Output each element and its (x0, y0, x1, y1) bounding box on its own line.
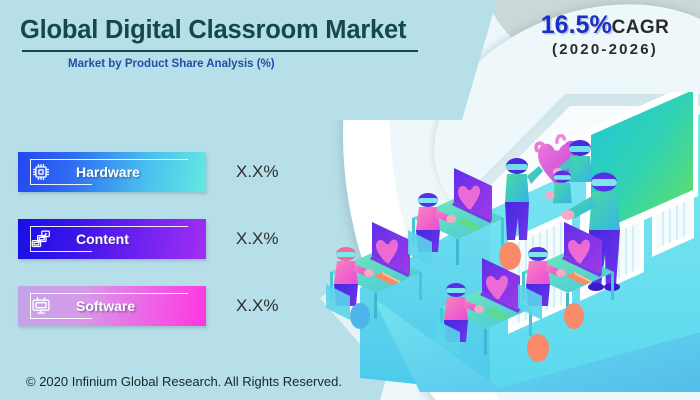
legend-label-hardware: Hardware (76, 152, 140, 192)
page-title: Global Digital Classroom Market (20, 16, 406, 45)
cagr-label: CAGR (612, 17, 670, 38)
legend-row-hardware[interactable]: Hardware X.X% (18, 152, 206, 192)
monitor-icon (31, 296, 51, 316)
legend-bar-hardware[interactable]: Hardware (18, 152, 206, 192)
cagr-badge: 16.5%CAGR (516, 11, 694, 40)
legend-value-hardware: X.X% (236, 152, 279, 192)
title-underline (22, 50, 418, 52)
legend-label-content: Content (76, 219, 129, 259)
cagr-value: 16.5% (541, 11, 612, 39)
legend-label-software: Software (76, 286, 135, 326)
content-media-icon (31, 229, 51, 249)
legend-row-content[interactable]: Content X.X% (18, 219, 206, 259)
isometric-vr-classroom-illustration (300, 92, 700, 392)
legend-value-software: X.X% (236, 286, 279, 326)
legend-value-content: X.X% (236, 219, 279, 259)
legend-row-software[interactable]: Software X.X% (18, 286, 206, 326)
infographic-poster: Global Digital Classroom Market Market b… (0, 0, 700, 400)
footer-copyright: © 2020 Infinium Global Research. All Rig… (26, 374, 342, 389)
cagr-period: (2020-2026) (516, 41, 694, 58)
legend-bar-software[interactable]: Software (18, 286, 206, 326)
page-subtitle: Market by Product Share Analysis (%) (68, 58, 275, 70)
legend-bar-content[interactable]: Content (18, 219, 206, 259)
cpu-chip-icon (31, 162, 51, 182)
